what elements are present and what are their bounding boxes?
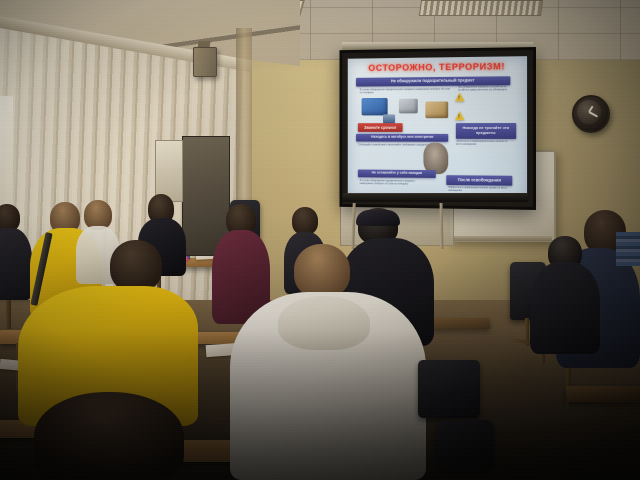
wall-speaker-icon: [193, 47, 217, 77]
slide-header-6: После освобождения: [447, 175, 513, 185]
backpack: [418, 360, 480, 418]
classroom-photo: ОСТОРОЖНО, ТЕРРОРИЗМ! Не обнаружили подо…: [0, 0, 640, 480]
slide-body-1: В случае обнаружения подозрительного пре…: [360, 88, 452, 97]
hood: [278, 296, 370, 350]
projection-screen[interactable]: ОСТОРОЖНО, ТЕРРОРИЗМ! Не обнаружили подо…: [339, 47, 536, 210]
cap-icon: [356, 210, 400, 226]
slide-body-4: Обратитесь в правоохранительные органы п…: [456, 140, 513, 160]
student-desk: [566, 386, 640, 402]
suspicious-bag-illustration: [362, 98, 388, 116]
slide-title: ОСТОРОЖНО, ТЕРРОРИЗМ!: [355, 58, 520, 76]
torso: [530, 262, 600, 354]
head: [110, 240, 162, 292]
slide-body-5: В случае обнаружения подозрительного пре…: [360, 179, 423, 192]
slide-header-3: Находясь в автобусе или электричке: [356, 133, 448, 142]
desk-leg: [6, 295, 11, 329]
slide-header-4: Никогда не трогайте эти предметы: [456, 123, 517, 139]
suspicious-box-illustration: [398, 99, 417, 113]
canister-illustration: [383, 114, 395, 122]
screen-weight-bar: [343, 193, 528, 202]
slide-header-5: Не оставляйте у себя находки: [358, 169, 436, 178]
warning-triangle-icon: [455, 111, 465, 120]
ceiling-light-panel: [419, 0, 543, 16]
book-stack: [616, 232, 640, 266]
whiteboard-marker-tray: [450, 236, 552, 241]
slide-header-2: Звоните срочно!: [358, 124, 402, 132]
presentation-slide: ОСТОРОЖНО, ТЕРРОРИЗМ! Не обнаружили подо…: [348, 56, 527, 201]
wall-poster: [155, 140, 183, 202]
warning-triangle-icon: [455, 93, 465, 102]
slide-body-2: При обнаружении взрывного устройства не …: [457, 85, 512, 117]
head: [294, 244, 350, 298]
head: [292, 207, 318, 235]
backpack: [436, 420, 494, 470]
suspicious-package-illustration: [425, 101, 448, 118]
torso: [0, 228, 32, 300]
head: [34, 392, 184, 480]
